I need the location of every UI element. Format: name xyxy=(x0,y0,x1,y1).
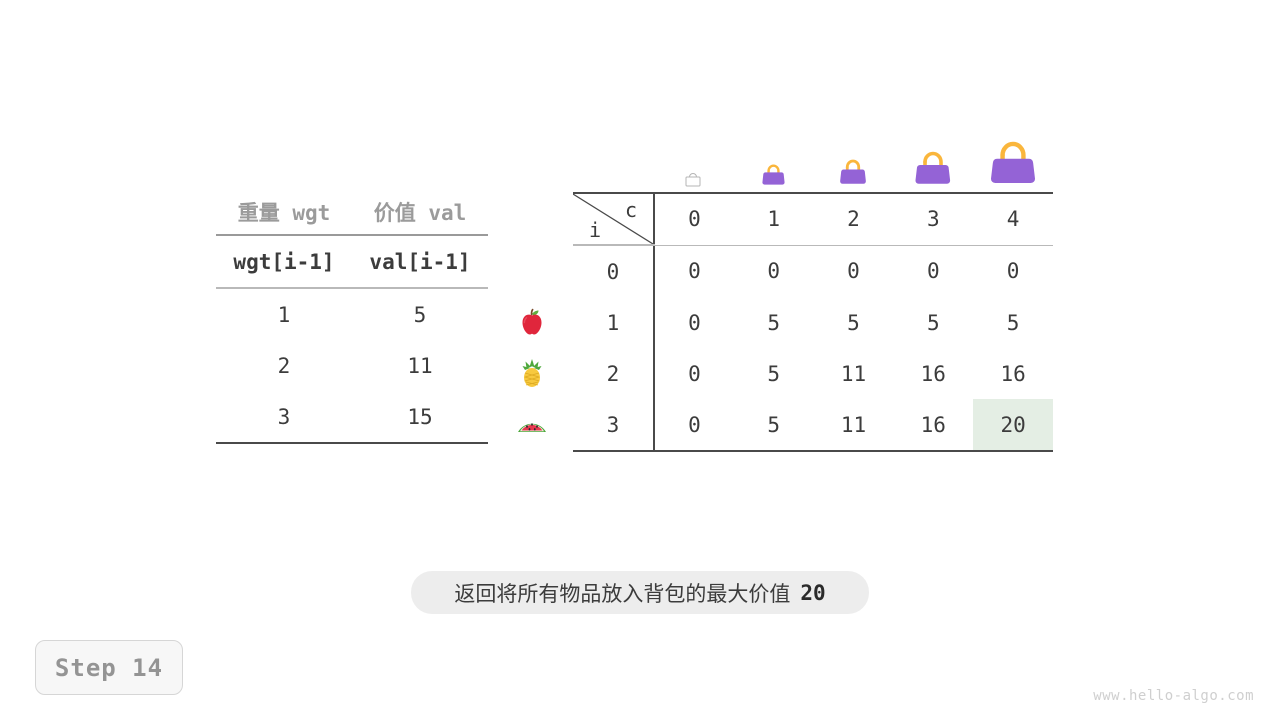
watermelon-icon xyxy=(506,398,558,449)
bag-icon-capacity-3 xyxy=(893,120,973,190)
bag-icon-capacity-1 xyxy=(733,120,813,190)
dp-cell-1-3: 5 xyxy=(893,297,973,348)
dp-cell-1-0: 0 xyxy=(654,297,734,348)
dp-cell-0-2: 0 xyxy=(814,245,894,297)
dp-cell-3-0: 0 xyxy=(654,399,734,451)
item-value-3: 15 xyxy=(352,391,488,443)
dp-row-axis-label: i xyxy=(589,218,601,242)
fruit-column xyxy=(506,296,558,449)
table-row: 3 15 xyxy=(216,391,488,443)
dp-cell-2-1: 5 xyxy=(734,348,814,399)
dp-header-row: c i 0 1 2 3 4 xyxy=(573,193,1053,245)
dp-row-header-0: 0 xyxy=(573,245,654,297)
items-variable-row: wgt[i-1] val[i-1] xyxy=(216,235,488,288)
dp-col-axis-label: c xyxy=(625,198,637,222)
items-table-grid: 重量 wgt 价值 val wgt[i-1] val[i-1] 1 5 2 11… xyxy=(216,190,488,444)
items-header-weight: 重量 wgt xyxy=(216,190,352,235)
result-caption-text: 返回将所有物品放入背包的最大价值 xyxy=(454,578,790,608)
dp-cell-3-2: 11 xyxy=(814,399,894,451)
dp-cell-2-4: 16 xyxy=(973,348,1053,399)
dp-cell-1-2: 5 xyxy=(814,297,894,348)
dp-cell-0-0: 0 xyxy=(654,245,734,297)
dp-row-header-1: 1 xyxy=(573,297,654,348)
dp-col-header-0: 0 xyxy=(654,193,734,245)
items-var-wgt: wgt[i-1] xyxy=(216,235,352,288)
table-row: 0 0 0 0 0 0 xyxy=(573,245,1053,297)
dp-row-header-2: 2 xyxy=(573,348,654,399)
dp-col-header-1: 1 xyxy=(734,193,814,245)
pineapple-icon xyxy=(506,347,558,398)
dp-cell-2-0: 0 xyxy=(654,348,734,399)
items-table: 重量 wgt 价值 val wgt[i-1] val[i-1] 1 5 2 11… xyxy=(216,190,488,444)
table-row: 1 5 xyxy=(216,288,488,340)
table-row: 3 0 5 11 16 20 xyxy=(573,399,1053,451)
dp-cell-0-3: 0 xyxy=(893,245,973,297)
dp-row-header-3: 3 xyxy=(573,399,654,451)
dp-cell-0-1: 0 xyxy=(734,245,814,297)
bag-icon-capacity-4 xyxy=(973,120,1053,190)
dp-cell-3-3: 16 xyxy=(893,399,973,451)
dp-cell-3-4-highlighted: 20 xyxy=(973,399,1053,451)
items-table-header-row: 重量 wgt 价值 val xyxy=(216,190,488,235)
dp-table-grid: c i 0 1 2 3 4 0 0 0 0 0 0 1 0 5 xyxy=(573,192,1053,452)
item-weight-1: 1 xyxy=(216,288,352,340)
item-weight-2: 2 xyxy=(216,340,352,391)
dp-corner-cell: c i xyxy=(573,193,654,245)
apple-icon xyxy=(506,296,558,347)
bag-icon-capacity-0 xyxy=(653,120,733,190)
bag-icon-capacity-2 xyxy=(813,120,893,190)
bag-capacity-row xyxy=(653,120,1053,190)
table-row: 2 0 5 11 16 16 xyxy=(573,348,1053,399)
dp-cell-1-1: 5 xyxy=(734,297,814,348)
dp-col-header-2: 2 xyxy=(814,193,894,245)
dp-cell-2-2: 11 xyxy=(814,348,894,399)
dp-col-header-4: 4 xyxy=(973,193,1053,245)
items-header-value: 价值 val xyxy=(352,190,488,235)
item-value-2: 11 xyxy=(352,340,488,391)
dp-cell-2-3: 16 xyxy=(893,348,973,399)
item-weight-3: 3 xyxy=(216,391,352,443)
result-caption: 返回将所有物品放入背包的最大价值 20 xyxy=(411,571,869,614)
dp-cell-1-4: 5 xyxy=(973,297,1053,348)
dp-table: c i 0 1 2 3 4 0 0 0 0 0 0 1 0 5 xyxy=(573,192,1053,452)
table-row: 1 0 5 5 5 5 xyxy=(573,297,1053,348)
diagonal-divider-icon xyxy=(573,194,653,244)
result-caption-value: 20 xyxy=(800,581,825,605)
dp-col-header-3: 3 xyxy=(893,193,973,245)
table-row: 2 11 xyxy=(216,340,488,391)
step-badge-label: Step 14 xyxy=(55,654,163,682)
items-var-val: val[i-1] xyxy=(352,235,488,288)
step-badge: Step 14 xyxy=(35,640,183,695)
dp-cell-3-1: 5 xyxy=(734,399,814,451)
dp-cell-0-4: 0 xyxy=(973,245,1053,297)
item-value-1: 5 xyxy=(352,288,488,340)
site-watermark: www.hello-algo.com xyxy=(1093,688,1254,704)
